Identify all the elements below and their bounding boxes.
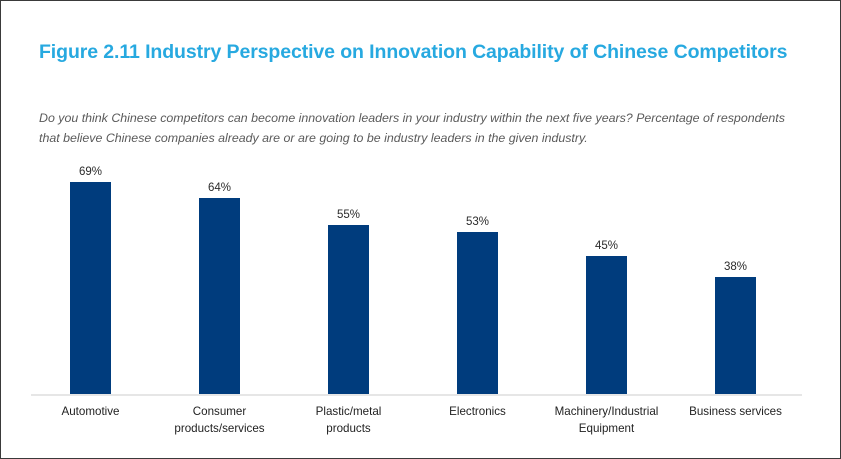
bar[interactable] bbox=[199, 198, 240, 394]
category-label: Consumerproducts/services bbox=[152, 403, 287, 437]
bar-slot: 38% bbox=[671, 161, 800, 394]
bar-slot: 64% bbox=[155, 161, 284, 394]
bar[interactable] bbox=[457, 232, 498, 394]
bar-value-label: 64% bbox=[155, 182, 284, 194]
category-label-line: Consumer bbox=[152, 403, 287, 420]
category-label-line: products/services bbox=[152, 420, 287, 437]
category-label: Automotive bbox=[23, 403, 158, 420]
bar[interactable] bbox=[70, 182, 111, 394]
bar-slot: 55% bbox=[284, 161, 413, 394]
category-labels-layer: AutomotiveConsumerproducts/servicesPlast… bbox=[1, 403, 841, 455]
category-label-line: Automotive bbox=[23, 403, 158, 420]
bar-value-label: 38% bbox=[671, 261, 800, 273]
x-axis-line bbox=[31, 394, 802, 396]
figure-container: Figure 2.11 Industry Perspective on Inno… bbox=[0, 0, 841, 459]
bar-value-label: 45% bbox=[542, 240, 671, 252]
bar-value-label: 53% bbox=[413, 216, 542, 228]
category-label-line: Plastic/metal bbox=[281, 403, 416, 420]
bar-slot: 53% bbox=[413, 161, 542, 394]
bar-slot: 45% bbox=[542, 161, 671, 394]
bar[interactable] bbox=[586, 256, 627, 394]
bar[interactable] bbox=[328, 225, 369, 394]
category-label: Business services bbox=[668, 403, 803, 420]
bar[interactable] bbox=[715, 277, 756, 394]
category-label-line: products bbox=[281, 420, 416, 437]
figure-title: Figure 2.11 Industry Perspective on Inno… bbox=[39, 39, 809, 66]
bar-value-label: 55% bbox=[284, 209, 413, 221]
category-label: Machinery/IndustrialEquipment bbox=[539, 403, 674, 437]
bar-value-label: 69% bbox=[26, 166, 155, 178]
category-label: Plastic/metalproducts bbox=[281, 403, 416, 437]
category-label-line: Business services bbox=[668, 403, 803, 420]
category-label-line: Electronics bbox=[410, 403, 545, 420]
category-label-line: Machinery/Industrial bbox=[539, 403, 674, 420]
bar-slot: 69% bbox=[26, 161, 155, 394]
category-label: Electronics bbox=[410, 403, 545, 420]
category-label-line: Equipment bbox=[539, 420, 674, 437]
bars-layer: 69%64%55%53%45%38% bbox=[1, 161, 841, 394]
figure-subtitle: Do you think Chinese competitors can bec… bbox=[39, 108, 807, 148]
